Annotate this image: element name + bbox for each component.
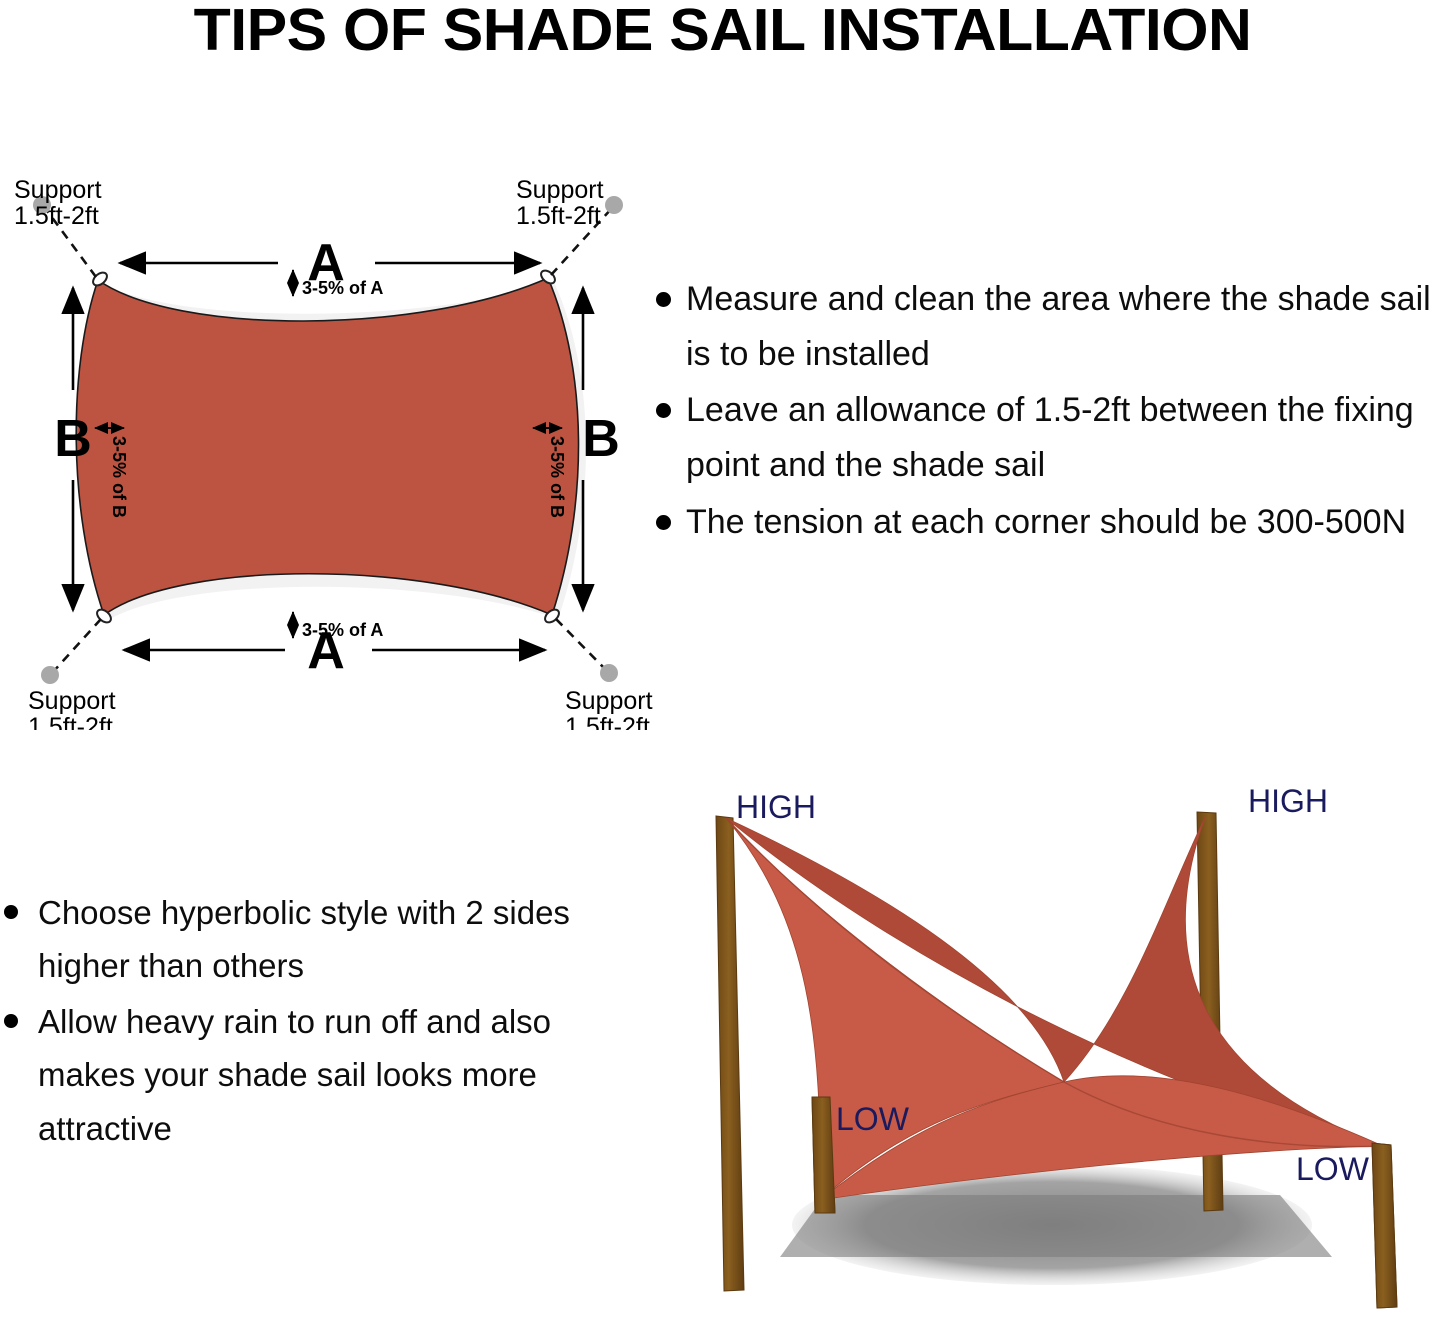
- support-label-top-right: Support 1.5ft-2ft: [516, 176, 604, 230]
- bullet-dot-icon: [656, 515, 671, 530]
- bullet-dot-icon: [4, 905, 18, 919]
- support-label-top-left: Support 1.5ft-2ft: [14, 176, 102, 230]
- page-title: TIPS OF SHADE SAIL INSTALLATION: [0, 0, 1445, 64]
- label-sag-top: 3-5% of A: [302, 278, 383, 298]
- support-dot-bottom-right: [600, 664, 618, 682]
- post-high-left: [716, 816, 744, 1291]
- support-dot-bottom-left: [41, 666, 59, 684]
- tip-text: Choose hyperbolic style with 2 sides hig…: [38, 894, 570, 984]
- infographic-page: TIPS OF SHADE SAIL INSTALLATION: [0, 0, 1445, 1319]
- support-distance-text-br: 1.5ft-2ft: [565, 713, 650, 730]
- list-item: The tension at each corner should be 300…: [648, 495, 1445, 550]
- tip-text: The tension at each corner should be 300…: [686, 503, 1406, 541]
- support-dot-top-right: [605, 196, 623, 214]
- hyperbolic-sail-diagram: HIGH HIGH LOW LOW: [660, 770, 1445, 1319]
- label-dimension-b-right: B: [582, 410, 620, 468]
- ground-shadow-quad: [780, 1195, 1332, 1257]
- label-sag-bottom: 3-5% of A: [302, 620, 383, 640]
- support-distance-text-bl: 1.5ft-2ft: [28, 713, 113, 730]
- support-distance-text-tr: 1.5ft-2ft: [516, 202, 601, 230]
- support-label-text-bl: Support: [28, 687, 116, 715]
- bullet-dot-icon: [4, 1014, 18, 1028]
- list-item: Leave an allowance of 1.5-2ft between th…: [648, 383, 1445, 492]
- tether-bottom-right: [556, 619, 606, 670]
- tip-text: Measure and clean the area where the sha…: [686, 280, 1431, 373]
- tether-bottom-left: [53, 619, 101, 672]
- rectangle-sail-diagram: A A B B 3-5% of A 3-5% of A 3-5% of B 3-…: [0, 160, 660, 730]
- tip-text: Leave an allowance of 1.5-2ft between th…: [686, 391, 1414, 484]
- label-sag-right: 3-5% of B: [547, 436, 567, 518]
- list-item: Choose hyperbolic style with 2 sides hig…: [0, 886, 620, 993]
- tips-list-left: Choose hyperbolic style with 2 sides hig…: [0, 886, 620, 1157]
- support-label-text-tl: Support: [14, 176, 102, 204]
- label-sag-left: 3-5% of B: [109, 436, 129, 518]
- label-dimension-b-left: B: [54, 410, 92, 468]
- support-distance-text-tl: 1.5ft-2ft: [14, 202, 99, 230]
- bullet-dot-icon: [656, 292, 671, 307]
- support-label-text-tr: Support: [516, 176, 604, 204]
- support-label-bottom-right: Support 1.5ft-2ft: [565, 687, 653, 730]
- tip-text: Allow heavy rain to run off and also mak…: [38, 1003, 551, 1147]
- label-low-left: LOW: [836, 1101, 910, 1137]
- label-high-left: HIGH: [736, 789, 816, 825]
- support-label-bottom-left: Support 1.5ft-2ft: [28, 687, 116, 730]
- list-item: Measure and clean the area where the sha…: [648, 272, 1445, 381]
- bullet-dot-icon: [656, 403, 671, 418]
- tips-list-right: Measure and clean the area where the sha…: [648, 272, 1445, 552]
- post-low-right-front: [1372, 1143, 1397, 1308]
- label-low-right: LOW: [1296, 1151, 1370, 1187]
- rectangular-sail-shape: [76, 278, 578, 615]
- support-label-text-br: Support: [565, 687, 653, 715]
- list-item: Allow heavy rain to run off and also mak…: [0, 995, 620, 1155]
- label-high-right: HIGH: [1248, 783, 1328, 819]
